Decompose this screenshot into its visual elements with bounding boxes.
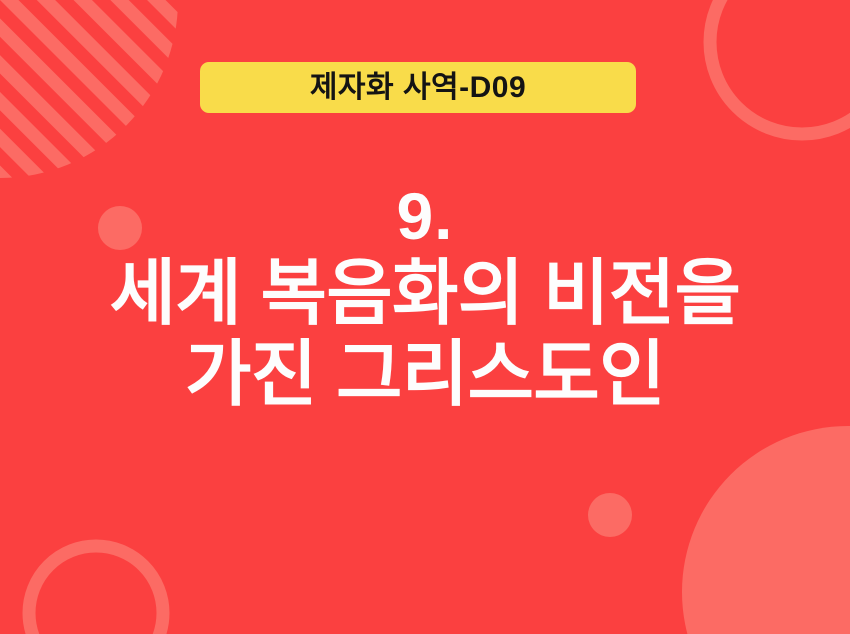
ring-top-right-icon: [710, 0, 850, 134]
title-number: 9.: [0, 183, 850, 250]
slide-canvas: 제자화 사역-D09 9. 세계 복음화의 비전을 가진 그리스도인: [0, 0, 850, 634]
series-badge: 제자화 사역-D09: [200, 62, 636, 113]
series-badge-label: 제자화 사역-D09: [310, 73, 526, 103]
ring-bottom-left-icon: [29, 546, 163, 634]
title-line-2: 가진 그리스도인: [0, 335, 850, 416]
circle-bottom-right-icon: [682, 426, 850, 634]
dot-bottom-left-small-icon: [588, 493, 632, 537]
title-line-1: 세계 복음화의 비전을: [0, 254, 850, 335]
slide-title-block: 9. 세계 복음화의 비전을 가진 그리스도인: [0, 183, 850, 416]
